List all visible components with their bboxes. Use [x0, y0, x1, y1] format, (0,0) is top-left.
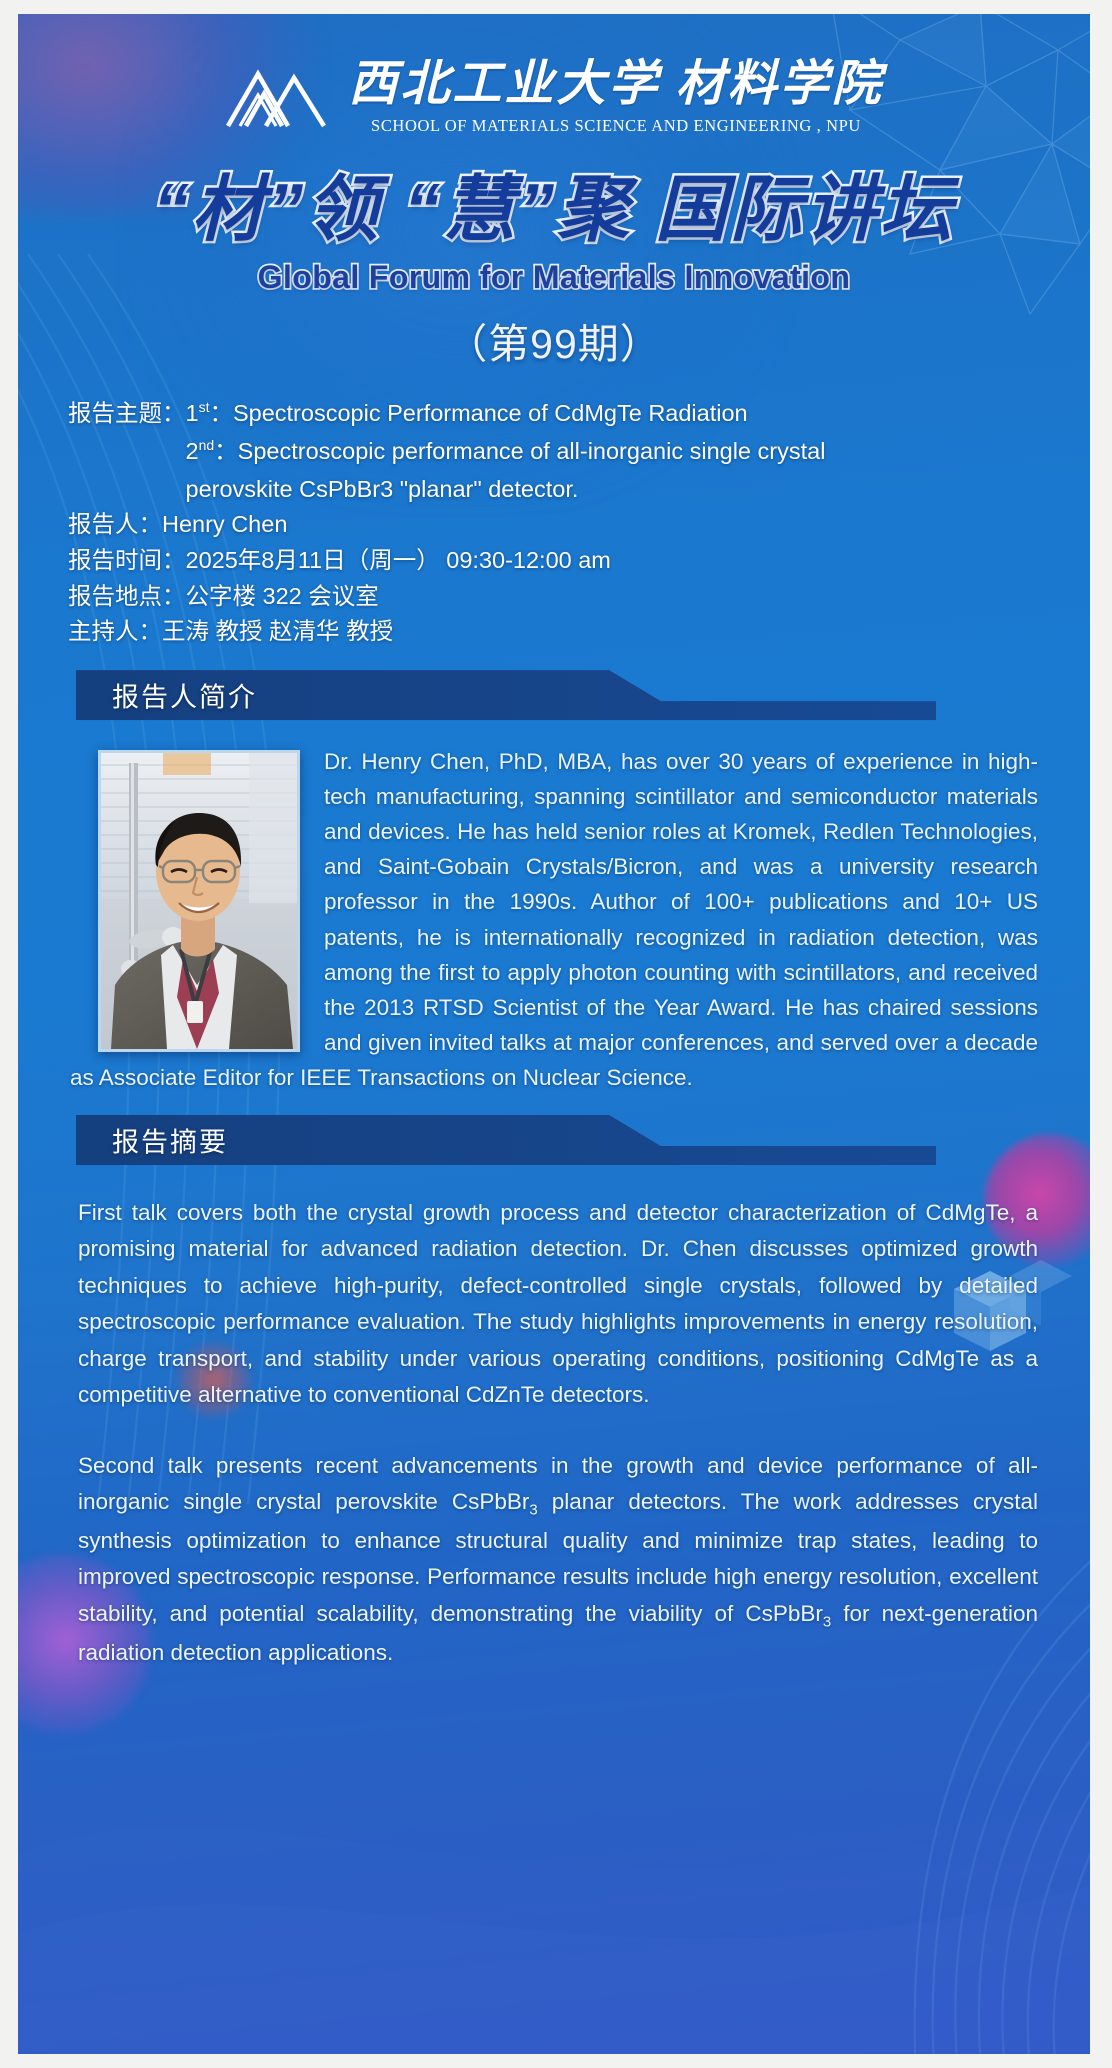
- title-block: “材”领 “慧”聚 国际讲坛 Global Forum for Material…: [18, 170, 1090, 370]
- topic-2-text: ：Spectroscopic performance of all-inorga…: [214, 438, 825, 464]
- section-title-bio: 报告人简介: [112, 676, 257, 715]
- abstract-body: First talk covers both the crystal growt…: [78, 1195, 1038, 1671]
- host-label: 主持人：: [68, 614, 162, 650]
- time-label: 报告时间：: [68, 543, 186, 579]
- time-value: 2025年8月11日（周一） 09:30-12:00 am: [186, 543, 1091, 579]
- school-name-en: SCHOOL OF MATERIALS SCIENCE AND ENGINEER…: [371, 116, 861, 136]
- forum-issue-number: （第99期）: [18, 310, 1090, 370]
- speaker-portrait: [98, 750, 300, 1052]
- event-info: 报告主题： 1st：Spectroscopic Performance of C…: [68, 396, 1090, 650]
- abstract-paragraph-2: Second talk presents recent advancements…: [78, 1448, 1038, 1671]
- school-name-cn: 西北工业大学 材料学院: [348, 58, 883, 109]
- portrait-image: [101, 753, 297, 1049]
- brand-text: 西北工业大学 材料学院 SCHOOL OF MATERIALS SCIENCE …: [348, 58, 883, 136]
- info-row-speaker: 报告人： Henry Chen: [68, 507, 1090, 543]
- topic-line-2: 2nd：Spectroscopic performance of all-ino…: [186, 434, 1091, 470]
- topic-line-1: 1st：Spectroscopic Performance of CdMgTe …: [186, 396, 1091, 432]
- topic-label: 报告主题：: [68, 396, 186, 432]
- abstract-p2-subscript-2: 3: [823, 1613, 831, 1630]
- topic-1-ordinal: st: [199, 399, 210, 415]
- forum-title-cn: “材”领 “慧”聚 国际讲坛: [18, 170, 1090, 251]
- info-row-topic: 报告主题： 1st：Spectroscopic Performance of C…: [68, 396, 1090, 507]
- forum-title-en: Global Forum for Materials Innovation: [18, 259, 1090, 296]
- place-label: 报告地点：: [68, 579, 186, 615]
- topic-values: 1st：Spectroscopic Performance of CdMgTe …: [186, 396, 1091, 507]
- topic-1-text: ：Spectroscopic Performance of CdMgTe Rad…: [209, 400, 747, 426]
- host-value: 王涛 教授 赵清华 教授: [162, 614, 1090, 650]
- topic-1-prefix: 1: [186, 400, 199, 426]
- info-row-time: 报告时间： 2025年8月11日（周一） 09:30-12:00 am: [68, 543, 1090, 579]
- poster-root: 西北工业大学 材料学院 SCHOOL OF MATERIALS SCIENCE …: [0, 0, 1112, 2068]
- wave-shapes-bottom: [18, 1674, 1090, 2054]
- section-header-bio: 报告人简介: [76, 670, 936, 720]
- topic-2-ordinal: nd: [199, 437, 215, 453]
- section-header-abstract: 报告摘要: [76, 1115, 936, 1165]
- topic-2-prefix: 2: [186, 438, 199, 464]
- topic-line-2-continued: perovskite CsPbBr3 "planar" detector.: [186, 472, 1091, 508]
- npu-mountain-logo-icon: [224, 64, 330, 130]
- info-row-place: 报告地点： 公字楼 322 会议室: [68, 579, 1090, 615]
- poster-canvas: 西北工业大学 材料学院 SCHOOL OF MATERIALS SCIENCE …: [18, 14, 1090, 2054]
- speaker-bio: Dr. Henry Chen, PhD, MBA, has over 30 ye…: [70, 744, 1038, 1095]
- brand-header: 西北工业大学 材料学院 SCHOOL OF MATERIALS SCIENCE …: [18, 14, 1090, 136]
- place-value: 公字楼 322 会议室: [186, 579, 1091, 615]
- abstract-paragraph-1: First talk covers both the crystal growt…: [78, 1195, 1038, 1414]
- info-row-host: 主持人： 王涛 教授 赵清华 教授: [68, 614, 1090, 650]
- abstract-p2-subscript-1: 3: [529, 1502, 537, 1519]
- speaker-value: Henry Chen: [162, 507, 1090, 543]
- speaker-label: 报告人：: [68, 507, 162, 543]
- section-title-abstract: 报告摘要: [112, 1121, 228, 1160]
